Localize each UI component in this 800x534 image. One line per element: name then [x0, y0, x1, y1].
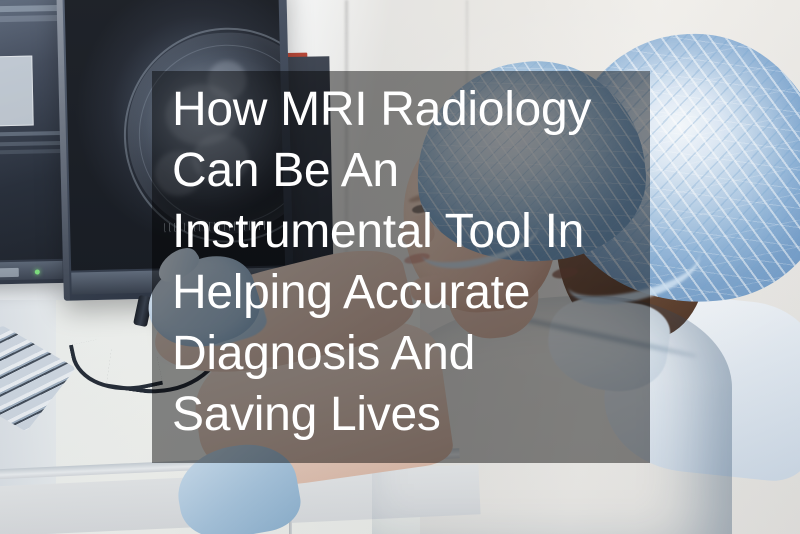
- ui-toolbar: [0, 15, 58, 23]
- monitor-left-label-strip: [0, 268, 19, 278]
- ui-titlebar: [0, 5, 57, 13]
- ui-row: [0, 141, 60, 147]
- featured-image-canvas: How MRI Radiology Can Be An Instrumental…: [0, 0, 800, 534]
- page-title: How MRI Radiology Can Be An Instrumental…: [172, 79, 642, 445]
- monitor-left-screen: [0, 0, 63, 261]
- ui-row: [0, 149, 60, 155]
- power-led-icon: [35, 269, 40, 274]
- ui-row: [0, 131, 60, 137]
- ui-window: [0, 56, 34, 127]
